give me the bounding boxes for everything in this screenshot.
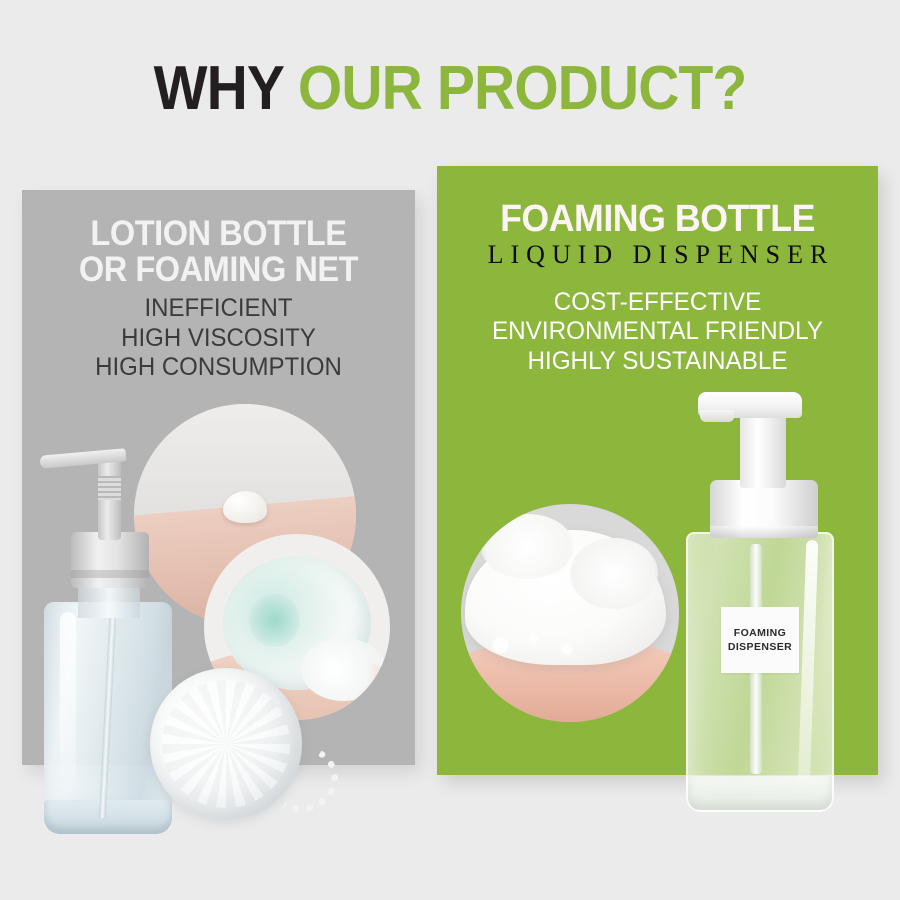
bottle-label-line2: DISPENSER — [728, 640, 792, 654]
left-bullet-1: INEFFICIENT — [30, 294, 407, 324]
infographic-canvas: WHY OUR PRODUCT? LOTION BOTTLE OR FOAMIN… — [0, 0, 900, 900]
right-panel-subtitle: LIQUID DISPENSER — [437, 240, 878, 270]
left-panel-title: LOTION BOTTLE OR FOAMING NET — [36, 216, 401, 289]
lotion-dab — [223, 491, 267, 523]
foaming-pump-stem — [740, 412, 786, 488]
left-panel-bullets: INEFFICIENT HIGH VISCOSITY HIGH CONSUMPT… — [30, 294, 407, 383]
right-bullet-2: ENVIRONMENTAL FRIENDLY — [444, 317, 872, 346]
foaming-pump-nozzle — [698, 392, 802, 418]
foam-bubbles — [470, 626, 623, 665]
right-panel-bullets: COST-EFFECTIVE ENVIRONMENTAL FRIENDLY HI… — [444, 288, 872, 376]
mesh-loofah-puff — [150, 668, 330, 843]
page-title-dark-part: WHY — [154, 54, 298, 123]
right-bullet-3: HIGHLY SUSTAINABLE — [444, 347, 872, 376]
lotion-bottle-shoulder — [78, 584, 140, 618]
foaming-pump-collar — [710, 480, 818, 538]
page-title: WHY OUR PRODUCT? — [36, 58, 864, 120]
foam-in-hand-photo — [461, 504, 679, 722]
foaming-bottle-base — [686, 776, 834, 812]
foaming-pump-square-bottle: FOAMING DISPENSER — [684, 388, 836, 820]
bottle-label-line1: FOAMING — [734, 626, 786, 640]
left-panel-title-line2: OR FOAMING NET — [36, 252, 401, 288]
page-title-green-part: OUR PRODUCT? — [298, 54, 746, 123]
right-bullet-1: COST-EFFECTIVE — [444, 288, 872, 317]
lotion-pump-collar — [71, 532, 149, 588]
lotion-pump-ribs — [98, 476, 121, 500]
left-panel-title-line1: LOTION BOTTLE — [36, 216, 401, 252]
foaming-bottle-label: FOAMING DISPENSER — [721, 607, 799, 673]
right-panel-title: FOAMING BOTTLE — [450, 200, 865, 240]
left-bullet-2: HIGH VISCOSITY — [30, 324, 407, 354]
left-bullet-3: HIGH CONSUMPTION — [30, 353, 407, 383]
